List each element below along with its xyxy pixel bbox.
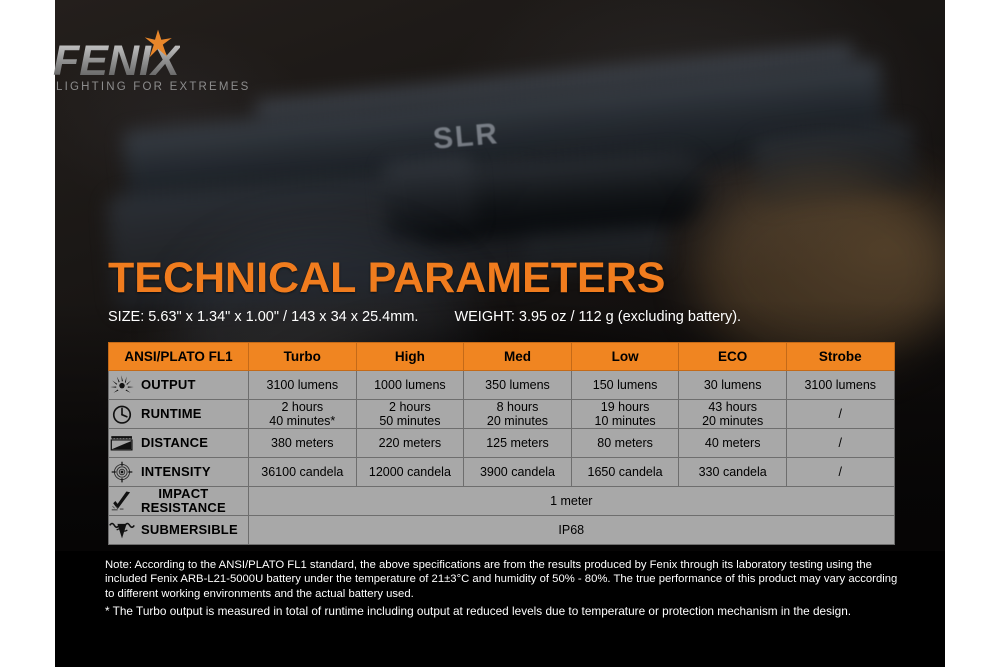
cell-runtime-high: 2 hours 50 minutes — [356, 400, 464, 429]
cell-output-turbo: 3100 lumens — [249, 371, 357, 400]
cell-output-eco: 30 lumens — [679, 371, 787, 400]
flashlight-head-shape — [382, 155, 477, 239]
star-icon — [143, 29, 173, 59]
table-row: IMPACT RESISTANCE 1 meter — [109, 487, 895, 516]
cell-output-med: 350 lumens — [464, 371, 572, 400]
row-label-output: OUTPUT — [109, 371, 249, 400]
row-label-text: DISTANCE — [141, 436, 208, 450]
flashlight-body-shape — [403, 150, 707, 245]
cell-runtime-low: 19 hours 10 minutes — [571, 400, 679, 429]
table-row: INTENSITY 36100 candela 12000 candela 39… — [109, 458, 895, 487]
cell-runtime-turbo: 2 hours 40 minutes* — [249, 400, 357, 429]
row-label-distance: DISTANCE — [109, 429, 249, 458]
table-row: DISTANCE 380 meters 220 meters 125 meter… — [109, 429, 895, 458]
logo-tagline: LIGHTING FOR EXTREMES — [56, 81, 250, 93]
col-header-3: Med — [464, 343, 572, 371]
row-label-submersible: SUBMERSIBLE — [109, 516, 249, 545]
cell-output-low: 150 lumens — [571, 371, 679, 400]
cell-distance-med: 125 meters — [464, 429, 572, 458]
row-label-text: INTENSITY — [141, 465, 211, 479]
weight-text: WEIGHT: 3.95 oz / 112 g (excluding batte… — [454, 309, 741, 325]
cell-distance-eco: 40 meters — [679, 429, 787, 458]
cell-distance-strobe: / — [786, 429, 894, 458]
rifle-rail-shape — [255, 43, 855, 126]
row-label-intensity: INTENSITY — [109, 458, 249, 487]
col-header-6: Strobe — [786, 343, 894, 371]
page-title: TECHNICAL PARAMETERS — [108, 254, 665, 303]
cell-distance-low: 80 meters — [571, 429, 679, 458]
row-label-runtime: RUNTIME — [109, 400, 249, 429]
rifle-marking-text: SLR — [432, 117, 501, 157]
cell-intensity-low: 1650 candela — [571, 458, 679, 487]
cell-intensity-turbo: 36100 candela — [249, 458, 357, 487]
row-label-text: OUTPUT — [141, 378, 196, 392]
cell-runtime-eco: 43 hours 20 minutes — [679, 400, 787, 429]
col-header-0: ANSI/PLATO FL1 — [109, 343, 249, 371]
size-weight-line: SIZE: 5.63" x 1.34" x 1.00" / 143 x 34 x… — [108, 309, 908, 325]
table-header-row: ANSI/PLATO FL1 Turbo High Med Low ECO St… — [109, 343, 895, 371]
row-label-text: RUNTIME — [141, 407, 202, 421]
cell-intensity-eco: 330 candela — [679, 458, 787, 487]
cell-intensity-strobe: / — [786, 458, 894, 487]
row-label-text: SUBMERSIBLE — [141, 523, 238, 537]
cell-impact-resistance-value: 1 meter — [249, 487, 895, 516]
row-label-impact-resistance: IMPACT RESISTANCE — [109, 487, 249, 516]
cell-intensity-med: 3900 candela — [464, 458, 572, 487]
cell-submersible-value: IP68 — [249, 516, 895, 545]
product-spec-sheet: SLR FENIX LIGHTING FOR EXTREMES TECHNICA… — [0, 0, 1000, 667]
cell-distance-turbo: 380 meters — [249, 429, 357, 458]
turbo-asterisk-note: * The Turbo output is measured in total … — [105, 604, 898, 619]
table-row: RUNTIME 2 hours 40 minutes* 2 hours 50 m… — [109, 400, 895, 429]
cell-distance-high: 220 meters — [356, 429, 464, 458]
size-text: SIZE: 5.63" x 1.34" x 1.00" / 143 x 34 x… — [108, 309, 418, 325]
impact-check-icon — [109, 490, 135, 512]
target-intensity-icon — [109, 461, 135, 483]
specifications-table: ANSI/PLATO FL1 Turbo High Med Low ECO St… — [108, 342, 895, 545]
table-row: OUTPUT 3100 lumens 1000 lumens 350 lumen… — [109, 371, 895, 400]
fenix-logo: FENIX LIGHTING FOR EXTREMES — [53, 33, 268, 95]
cell-runtime-med: 8 hours 20 minutes — [464, 400, 572, 429]
cell-intensity-high: 12000 candela — [356, 458, 464, 487]
ansi-note: Note: According to the ANSI/PLATO FL1 st… — [105, 558, 898, 601]
clock-icon — [109, 403, 135, 425]
col-header-5: ECO — [679, 343, 787, 371]
cell-runtime-strobe: / — [786, 400, 894, 429]
col-header-2: High — [356, 343, 464, 371]
muzzle-shape — [752, 122, 918, 208]
row-label-text: IMPACT RESISTANCE — [141, 487, 226, 514]
table-row: SUBMERSIBLE IP68 — [109, 516, 895, 545]
water-drop-icon — [109, 519, 135, 541]
col-header-1: Turbo — [249, 343, 357, 371]
beam-distance-icon — [109, 432, 135, 454]
light-burst-icon — [109, 374, 135, 396]
col-header-4: Low — [571, 343, 679, 371]
cell-output-strobe: 3100 lumens — [786, 371, 894, 400]
cell-output-high: 1000 lumens — [356, 371, 464, 400]
